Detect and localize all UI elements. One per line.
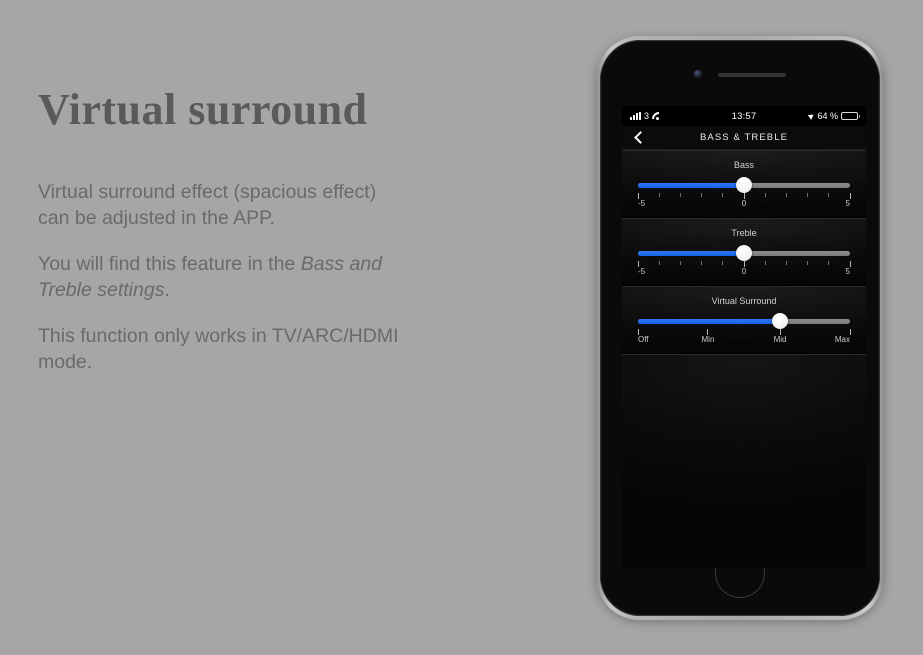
empty-content-area xyxy=(622,354,866,568)
slider-knob-virtual-surround[interactable] xyxy=(772,313,788,329)
slider-tick-labels-treble: -505 xyxy=(638,267,850,278)
tick-label: -5 xyxy=(638,199,645,208)
front-camera-icon xyxy=(694,70,702,78)
tick-mark xyxy=(786,193,787,197)
tick-mark xyxy=(765,193,766,197)
slider-list: Bass-505Treble-505Virtual SurroundOffMin… xyxy=(622,150,866,354)
paragraph-2-lead: You will find this feature in the xyxy=(38,253,301,275)
slider-knob-treble[interactable] xyxy=(736,245,752,261)
tick-mark xyxy=(659,193,660,197)
body-text-block: Virtual surround effect (spacious effect… xyxy=(38,180,438,376)
tick-mark xyxy=(828,193,829,197)
screen-content: Bass-505Treble-505Virtual SurroundOffMin… xyxy=(622,150,866,568)
tick-label: Min xyxy=(702,335,715,344)
slider-tick-labels-bass: -505 xyxy=(638,199,850,210)
tick-label: -5 xyxy=(638,267,645,276)
tick-label: Off xyxy=(638,335,649,344)
tick-mark xyxy=(722,261,723,265)
battery-percent-label: 64 % xyxy=(817,111,838,121)
slider-fill-bass xyxy=(638,183,744,188)
page-title: Virtual surround xyxy=(38,86,438,134)
nav-bar: BASS & TREBLE xyxy=(622,126,866,150)
slider-fill-virtual-surround xyxy=(638,319,780,324)
slide-text-column: Virtual surround Virtual surround effect… xyxy=(38,86,438,396)
phone-mockup: 3 13:57 64 % BASS & TREBLE Ba xyxy=(596,36,884,620)
tick-mark xyxy=(807,261,808,265)
paragraph-3: This function only works in TV/ARC/HDMI … xyxy=(38,324,410,376)
tick-mark xyxy=(807,193,808,197)
paragraph-2: You will find this feature in the Bass a… xyxy=(38,252,410,304)
slider-panel-bass: Bass-505 xyxy=(622,150,866,218)
slider-tick-labels-virtual-surround: OffMinMidMax xyxy=(638,335,850,346)
tick-label: 5 xyxy=(846,199,850,208)
tick-label: 0 xyxy=(742,199,746,208)
slider-bass[interactable] xyxy=(638,178,850,192)
tick-mark xyxy=(765,261,766,265)
paragraph-1: Virtual surround effect (spacious effect… xyxy=(38,180,410,232)
tick-mark xyxy=(786,261,787,265)
slider-panel-treble: Treble-505 xyxy=(622,218,866,286)
location-arrow-icon xyxy=(808,112,816,120)
phone-body: 3 13:57 64 % BASS & TREBLE Ba xyxy=(600,40,880,616)
status-bar-right: 64 % xyxy=(809,111,858,121)
slider-treble[interactable] xyxy=(638,246,850,260)
status-bar: 3 13:57 64 % xyxy=(622,106,866,126)
tick-mark xyxy=(701,193,702,197)
phone-screen: 3 13:57 64 % BASS & TREBLE Ba xyxy=(622,106,866,568)
tick-mark xyxy=(680,193,681,197)
tick-label: Max xyxy=(835,335,850,344)
tick-label: 5 xyxy=(846,267,850,276)
slider-panel-virtual-surround: Virtual SurroundOffMinMidMax xyxy=(622,286,866,354)
nav-bar-title: BASS & TREBLE xyxy=(622,132,866,143)
slider-fill-treble xyxy=(638,251,744,256)
paragraph-2-tail: . xyxy=(164,279,169,301)
slider-label-virtual-surround: Virtual Surround xyxy=(638,296,850,306)
tick-mark xyxy=(828,261,829,265)
battery-icon xyxy=(841,112,858,120)
slider-label-bass: Bass xyxy=(638,160,850,170)
tick-mark xyxy=(722,193,723,197)
slider-label-treble: Treble xyxy=(638,228,850,238)
tick-mark xyxy=(680,261,681,265)
slider-knob-bass[interactable] xyxy=(736,177,752,193)
tick-label: 0 xyxy=(742,267,746,276)
tick-mark xyxy=(701,261,702,265)
tick-label: Mid xyxy=(774,335,787,344)
earpiece-speaker xyxy=(718,73,786,77)
tick-mark xyxy=(659,261,660,265)
phone-top-hardware xyxy=(600,40,880,106)
slider-virtual-surround[interactable] xyxy=(638,314,850,328)
